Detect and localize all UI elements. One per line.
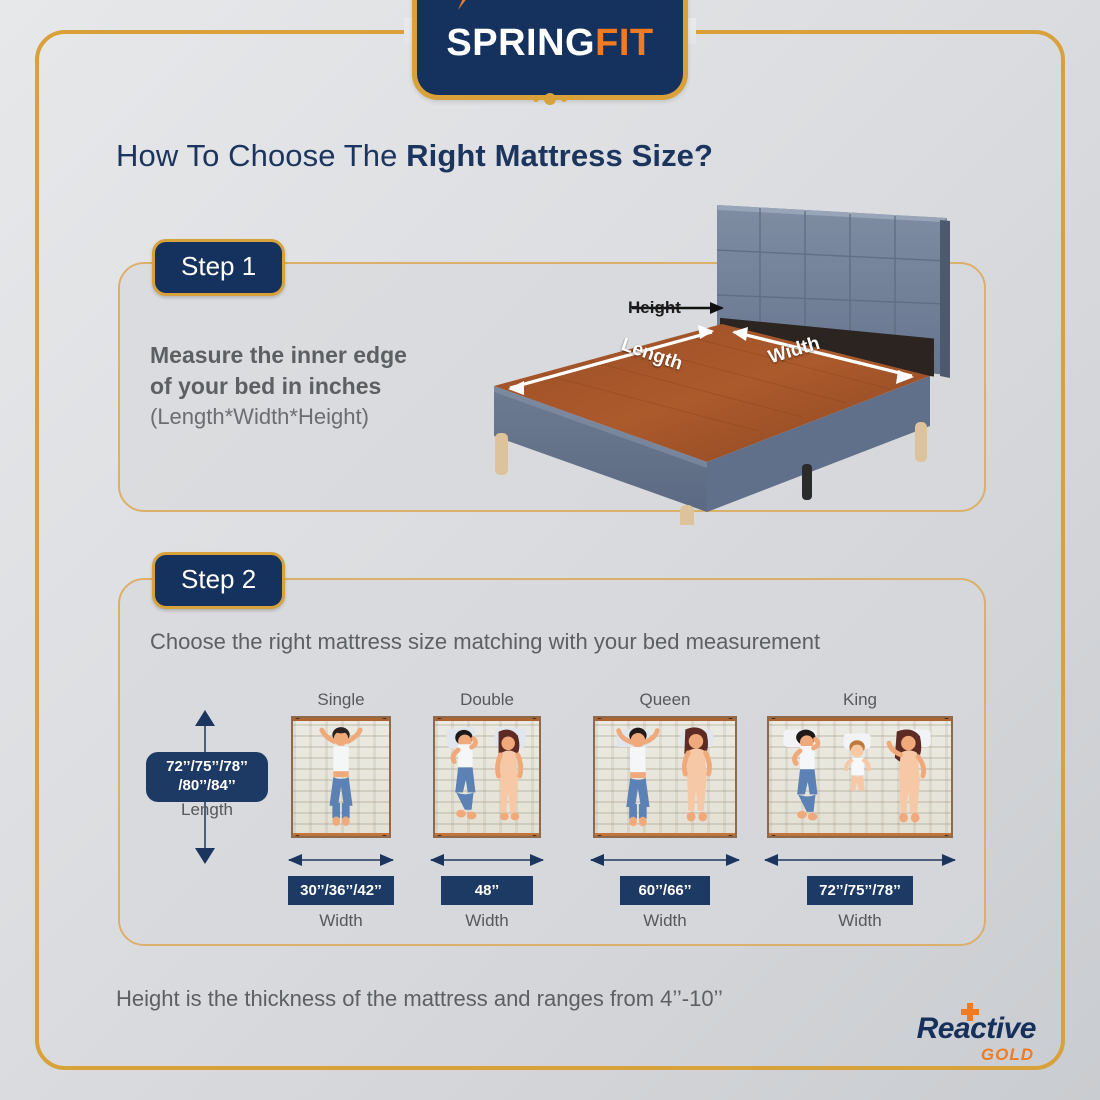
plus-cross-icon bbox=[961, 1003, 979, 1021]
brand-wordmark: SPRINGFIT bbox=[446, 24, 653, 62]
length-value-badge: 72’’/75’’/78’’ /80’’/84’’ bbox=[146, 752, 268, 802]
arrow-right-icon bbox=[530, 854, 544, 866]
width-value-badge-queen: 60’’/66’’ bbox=[620, 876, 710, 905]
width-caption-king: Width bbox=[762, 911, 958, 931]
step-1-line-1: Measure the inner edge bbox=[150, 340, 480, 371]
mattress-knob bbox=[770, 835, 777, 838]
size-column-queen[interactable]: Queen bbox=[588, 690, 742, 931]
mattress-illustration-queen bbox=[593, 716, 737, 838]
mattress-illustration-double bbox=[433, 716, 541, 838]
mattress-illustration-single bbox=[291, 716, 391, 838]
step-2-badge: Step 2 bbox=[152, 552, 285, 609]
width-caption-double: Width bbox=[428, 911, 546, 931]
size-name-double: Double bbox=[428, 690, 546, 710]
brand-logo-inner: SPRINGFIT bbox=[420, 0, 680, 92]
brand-logo-tab: SPRINGFIT bbox=[412, 0, 688, 100]
mattress-knob bbox=[294, 835, 301, 838]
arrow-left-icon bbox=[590, 854, 604, 866]
page-title: How To Choose The Right Mattress Size? bbox=[116, 138, 713, 174]
page-title-emphasis: Right Mattress Size? bbox=[406, 138, 713, 173]
step-1-line-2: of your bed in inches bbox=[150, 371, 480, 402]
length-caption: Length bbox=[150, 800, 264, 820]
arrow-left-icon bbox=[430, 854, 444, 866]
arrow-right-icon bbox=[726, 854, 740, 866]
brand-fit-text: FIT bbox=[595, 24, 653, 62]
width-arrow-queen bbox=[591, 852, 739, 868]
sleeper-family-icon bbox=[769, 718, 951, 836]
mattress-knob bbox=[596, 835, 603, 838]
size-column-king[interactable]: King bbox=[762, 690, 958, 931]
tab-decorative-dots bbox=[516, 92, 584, 106]
running-person-icon bbox=[454, 0, 476, 14]
width-arrow-single bbox=[289, 852, 393, 868]
step-1-instruction: Measure the inner edge of your bed in in… bbox=[150, 340, 480, 431]
length-value-line-2: /80’’/84’’ bbox=[178, 777, 235, 794]
arrow-left-icon bbox=[764, 854, 778, 866]
sleeper-figures-icon bbox=[435, 718, 539, 836]
reactive-gold-logo: Reactive GOLD bbox=[917, 1014, 1036, 1063]
mattress-knob bbox=[381, 835, 388, 838]
bed-height-label: Height bbox=[628, 298, 681, 318]
mattress-illustration-king bbox=[767, 716, 953, 838]
page-title-plain: How To Choose The bbox=[116, 138, 406, 173]
size-name-single: Single bbox=[286, 690, 396, 710]
width-caption-queen: Width bbox=[588, 911, 742, 931]
mattress-knob bbox=[727, 835, 734, 838]
mattress-knob bbox=[531, 835, 538, 838]
mattress-knob bbox=[943, 835, 950, 838]
size-name-queen: Queen bbox=[588, 690, 742, 710]
width-axis-line bbox=[765, 859, 955, 861]
length-arrow-up-icon bbox=[195, 710, 215, 726]
width-caption-single: Width bbox=[286, 911, 396, 931]
width-value-badge-single: 30’’/36’’/42’’ bbox=[288, 876, 394, 905]
brand-spring-text: SPRING bbox=[446, 24, 595, 62]
size-column-double[interactable]: Double bbox=[428, 690, 546, 931]
width-arrow-king bbox=[765, 852, 955, 868]
width-axis-line bbox=[591, 859, 739, 861]
sleeper-figures-icon bbox=[595, 718, 735, 836]
size-name-king: King bbox=[762, 690, 958, 710]
arrow-right-icon bbox=[942, 854, 956, 866]
width-axis-line bbox=[431, 859, 543, 861]
length-indicator: 72’’/75’’/78’’ /80’’/84’’ Length bbox=[150, 712, 270, 862]
width-arrow-double bbox=[431, 852, 543, 868]
arrow-left-icon bbox=[288, 854, 302, 866]
width-axis-line bbox=[289, 859, 393, 861]
mattress-knob bbox=[436, 835, 443, 838]
bed-diagram-svg bbox=[472, 190, 972, 525]
length-value-line-1: 72’’/75’’/78’’ bbox=[166, 758, 248, 775]
width-value-badge-king: 72’’/75’’/78’’ bbox=[807, 876, 913, 905]
reactive-gold-text: GOLD bbox=[917, 1046, 1034, 1063]
size-column-single[interactable]: Single 30’’/36’’/42’’ Width bbox=[286, 690, 396, 931]
sleeper-figure-icon bbox=[293, 718, 389, 836]
bed-illustration bbox=[472, 190, 972, 525]
footer-note: Height is the thickness of the mattress … bbox=[116, 986, 723, 1012]
reactive-wordmark: Reactive bbox=[917, 1014, 1036, 1044]
arrow-right-icon bbox=[380, 854, 394, 866]
length-arrow-down-icon bbox=[195, 848, 215, 864]
step-2-instruction: Choose the right mattress size matching … bbox=[150, 627, 910, 657]
width-value-badge-double: 48’’ bbox=[441, 876, 533, 905]
step-1-badge: Step 1 bbox=[152, 239, 285, 296]
step-1-line-3: (Length*Width*Height) bbox=[150, 402, 480, 431]
